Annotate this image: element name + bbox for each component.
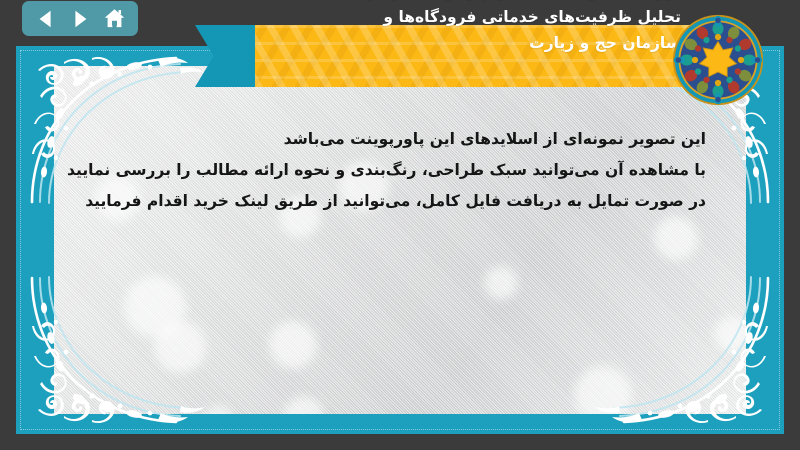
triangle-left-icon xyxy=(35,8,57,30)
home-slide-button[interactable] xyxy=(101,6,127,32)
bokeh-circle xyxy=(284,396,324,414)
slide-body-text: این تصویر نمونه‌ای از اسلایدهای این پاور… xyxy=(86,124,706,217)
bokeh-circle xyxy=(124,276,186,338)
bokeh-circle xyxy=(154,321,206,373)
body-line-3: در صورت تمایل به دریافت فایل کامل، می‌تو… xyxy=(86,186,706,217)
next-slide-button[interactable] xyxy=(67,6,93,32)
body-line-1: این تصویر نمونه‌ای از اسلایدهای این پاور… xyxy=(86,124,706,155)
slideshow-navigation-bar xyxy=(22,1,138,36)
presentation-window: این تصویر نمونه‌ای از اسلایدهای این پاور… xyxy=(0,0,800,450)
bokeh-circle xyxy=(654,216,698,260)
slide-title-banner: بررسی آغاز عملیات اعزام زائران عمره و تح… xyxy=(195,0,695,108)
home-icon xyxy=(103,7,126,30)
previous-slide-button[interactable] xyxy=(33,6,59,32)
triangle-right-icon xyxy=(69,8,91,30)
bokeh-circle xyxy=(574,366,632,414)
bokeh-circle xyxy=(714,316,746,352)
page-title: بررسی آغاز عملیات اعزام زائران عمره و تح… xyxy=(211,0,681,56)
bokeh-circle xyxy=(204,406,234,414)
bokeh-circle xyxy=(484,266,518,300)
body-line-2: با مشاهده آن می‌توانید سبک طراحی، رنگ‌بن… xyxy=(86,155,706,186)
bokeh-circle xyxy=(269,321,317,369)
slide-content-panel: این تصویر نمونه‌ای از اسلایدهای این پاور… xyxy=(54,66,746,414)
